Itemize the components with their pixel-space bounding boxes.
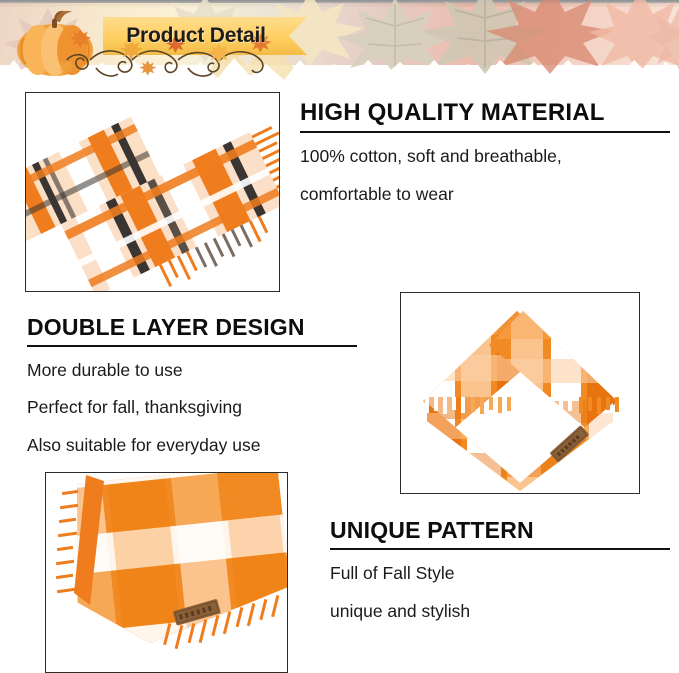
section-underline [300, 131, 670, 133]
section-body-line: comfortable to wear [300, 185, 670, 203]
section-body: More durable to use Perfect for fall, th… [27, 361, 357, 454]
section-body-line: 100% cotton, soft and breathable, [300, 147, 670, 165]
section-underline [330, 548, 670, 550]
section-underline [27, 345, 357, 347]
section-body: Full of Fall Style unique and stylish [330, 564, 670, 621]
scarf-plaid-corner-photo [45, 472, 288, 673]
section-body-line: unique and stylish [330, 602, 670, 620]
section-body-line: Perfect for fall, thanksgiving [27, 398, 357, 416]
section-body-line: Full of Fall Style [330, 564, 670, 582]
feature-section-double-layer-design: DOUBLE LAYER DESIGN More durable to use … [27, 315, 357, 473]
section-body: 100% cotton, soft and breathable, comfor… [300, 147, 670, 204]
page-title: Product Detail [103, 17, 289, 55]
feature-section-high-quality-material: HIGH QUALITY MATERIAL 100% cotton, soft … [300, 100, 670, 204]
feature-section-unique-pattern: UNIQUE PATTERN Full of Fall Style unique… [330, 518, 670, 621]
scarf-fringe-closeup-photo [25, 92, 280, 292]
section-heading: DOUBLE LAYER DESIGN [27, 315, 357, 341]
section-heading: UNIQUE PATTERN [330, 518, 670, 544]
product-detail-ribbon: Product Detail [103, 17, 307, 55]
section-body-line: Also suitable for everyday use [27, 436, 357, 454]
section-body-line: More durable to use [27, 361, 357, 379]
section-heading: HIGH QUALITY MATERIAL [300, 100, 670, 127]
scarf-folded-photo [400, 292, 640, 494]
page-header-banner: Product Detail [0, 0, 679, 88]
